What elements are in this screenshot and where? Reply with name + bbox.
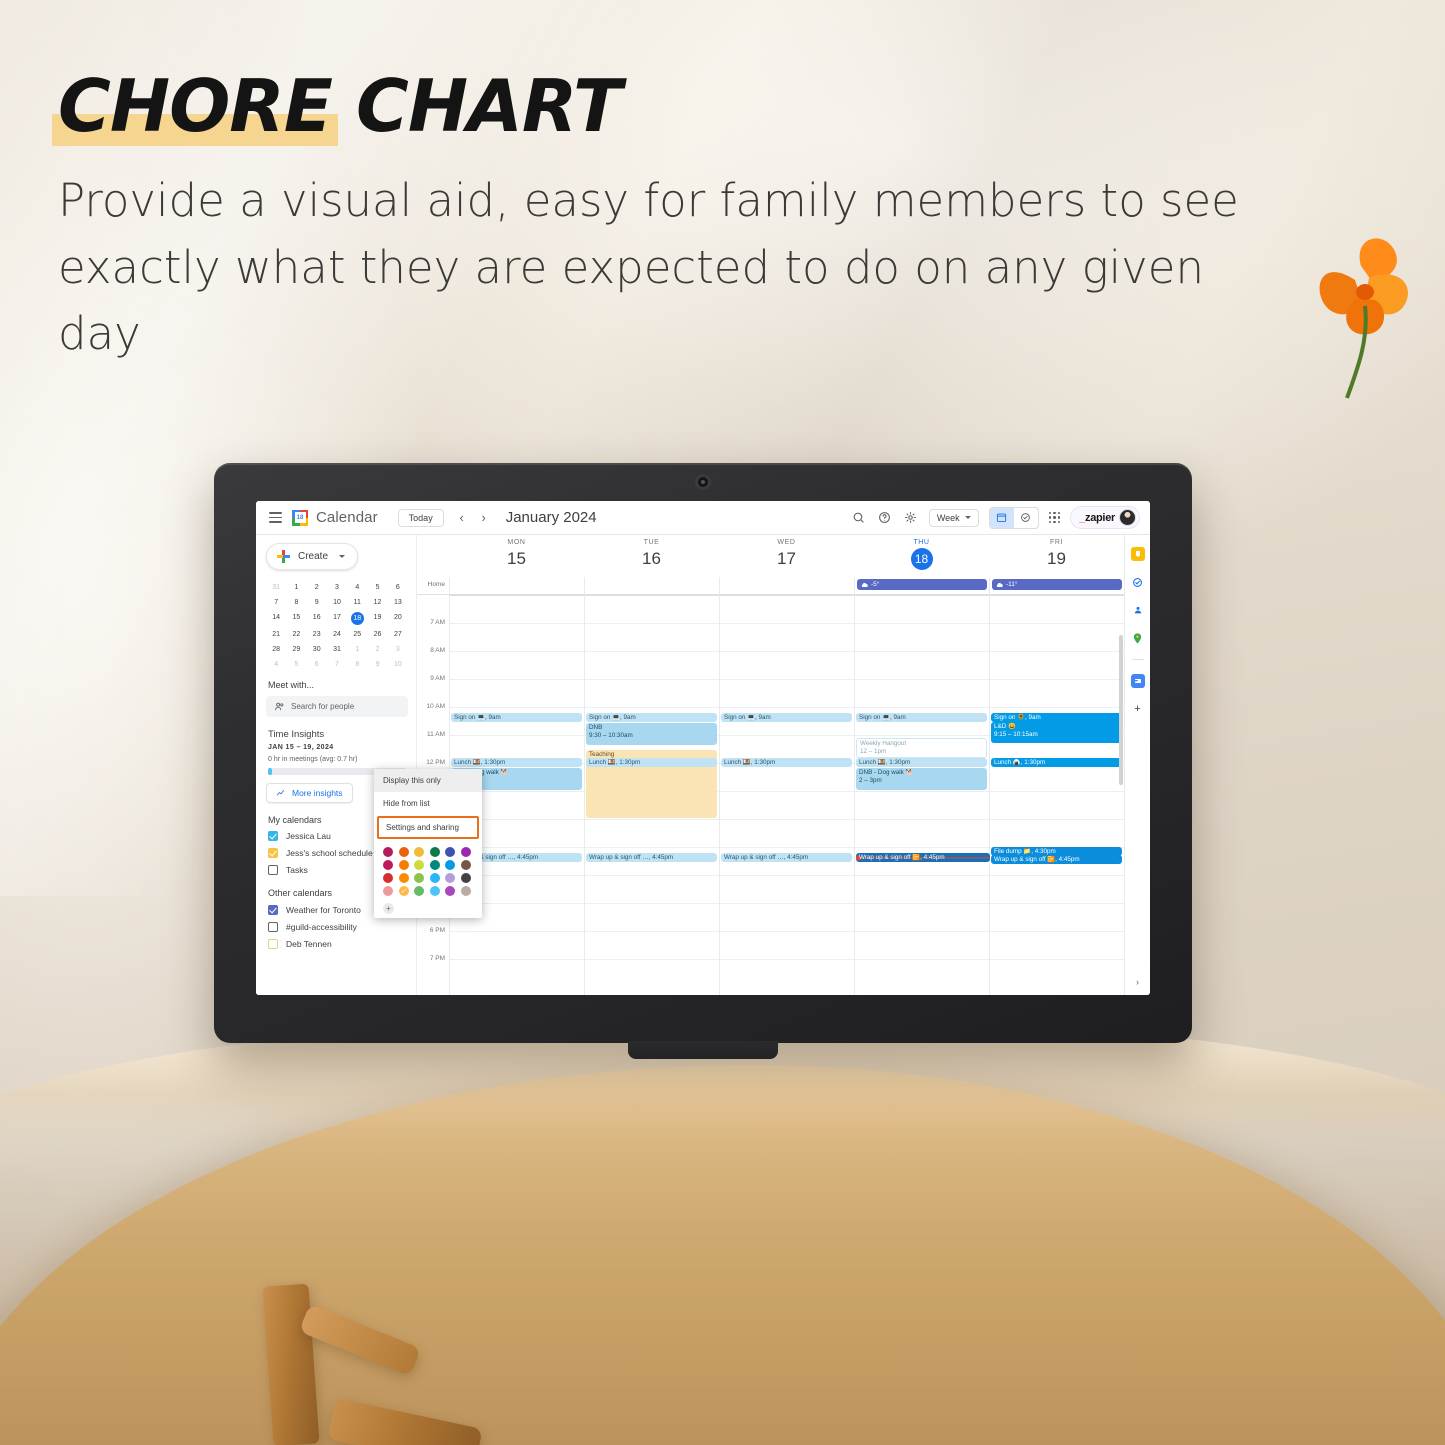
monitor-device: 18 Calendar Today ‹ › January 2024 [214,463,1192,1043]
color-swatch[interactable] [414,847,424,857]
event-chip-now[interactable]: Wrap up & sign off 📴, 4:45pm [856,853,990,862]
chevron-left-icon[interactable]: ‹ [452,508,472,528]
mini-calendar-week: 28 29 30 31 1 2 3 [266,644,408,655]
color-swatch[interactable] [445,886,455,896]
search-people-input[interactable]: Search for people [266,696,408,717]
mini-day[interactable]: 24 [327,629,347,640]
time-label: 10 AM [427,703,445,710]
color-swatch[interactable] [461,847,471,857]
day-column-wed[interactable]: Sign on 💻, 9am Lunch 🍱, 1:30pm Wrap up &… [719,595,854,995]
calendar-item-deb-tennen[interactable]: Deb Tennen [266,939,408,949]
calendar-name: Tasks [286,865,308,875]
event-chip[interactable]: Lunch 🍱, 1:30pm [451,758,582,767]
cloud-icon [996,582,1003,588]
mini-day[interactable]: 1 [347,644,367,655]
plus-multicolor-icon [277,550,290,563]
event-chip[interactable]: File dump 📁, 4:30pm [991,847,1122,856]
day-header-row: MON 15 TUE 16 WED 17 THU 18 [417,535,1124,577]
mini-calendar-week: 4 5 6 7 8 9 10 [266,659,408,670]
color-swatch[interactable] [414,873,424,883]
maps-icon[interactable] [1131,631,1145,645]
time-insights-range: JAN 15 – 19, 2024 [268,744,408,751]
event-chip[interactable]: Lunch 🍙, 1:30pm [991,758,1122,767]
mini-day[interactable]: 19 [367,612,387,625]
mini-calendar-week: 14 15 16 17 18 19 20 [266,612,408,625]
mini-day[interactable]: 6 [307,659,327,670]
help-icon[interactable] [877,510,893,526]
mini-day[interactable]: 1 [286,582,306,593]
time-grid: 7 AM 8 AM 9 AM 10 AM 11 AM 12 PM 1 PM 2 … [417,595,1124,995]
mini-day[interactable]: 15 [286,612,306,625]
hamburger-icon[interactable] [264,508,286,526]
color-swatch[interactable] [461,860,471,870]
day-header-wed[interactable]: WED 17 [719,535,854,577]
menu-item-settings-and-sharing[interactable]: Settings and sharing [377,816,479,839]
more-insights-button[interactable]: More insights [266,783,353,803]
mini-day[interactable]: 22 [286,629,306,640]
more-insights-label: More insights [292,788,343,798]
calendar-item-guild-accessibility[interactable]: #guild-accessibility [266,922,408,932]
mini-day[interactable]: 23 [307,629,327,640]
marketplace-addon-icon[interactable] [1131,674,1145,688]
time-label: 8 AM [430,647,445,654]
mini-day[interactable]: 13 [388,597,408,608]
poster-headline-block: CHORE CHART Provide a visual aid, easy f… [58,70,1258,368]
mini-day[interactable]: 10 [327,597,347,608]
event-chip[interactable]: Lunch 🍱, 1:30pm [586,758,717,767]
add-addon-icon[interactable]: + [1131,702,1145,716]
create-button-label: Create [298,551,328,562]
mini-day[interactable]: 20 [388,612,408,625]
day-of-week: MON [449,539,584,546]
color-swatch[interactable] [461,886,471,896]
view-select[interactable]: Week [929,509,979,527]
time-label: 11 AM [427,731,445,738]
date-nav-group: ‹ › [452,508,494,528]
weather-chip-thu[interactable]: -5° [857,579,987,590]
search-people-placeholder: Search for people [291,702,354,711]
app-body: Create 31 1 2 3 4 5 6 7 8 [256,535,1150,995]
all-day-cell-wed[interactable] [719,577,854,594]
color-swatch[interactable] [461,873,471,883]
cloud-icon [861,582,868,588]
app-brand-label: Calendar [316,509,378,526]
weather-temp: -5° [871,581,879,588]
chevron-right-icon[interactable]: › [1136,977,1139,987]
color-swatch[interactable] [445,847,455,857]
calendar-context-menu: Display this only Hide from list Setting… [374,769,482,918]
checkbox-checked[interactable] [268,831,278,841]
rail-divider [1132,659,1144,660]
event-chip[interactable]: Sign on 💻, 9am [856,713,987,722]
app-topbar: 18 Calendar Today ‹ › January 2024 [256,501,1150,535]
title-rest: CHART [332,64,621,148]
vertical-scrollbar[interactable] [1119,635,1123,785]
day-number: 19 [989,548,1124,570]
tasks-icon[interactable] [1131,575,1145,589]
view-toggle-group [989,507,1039,529]
mini-day[interactable]: 29 [286,644,306,655]
event-chip[interactable]: DNB - Dog walk 🐕 2 – 3pm [856,768,987,790]
mini-day[interactable]: 9 [367,659,387,670]
tasks-view-button[interactable] [1014,508,1038,528]
mini-day[interactable]: 8 [286,597,306,608]
color-swatch[interactable] [430,860,440,870]
all-day-row: Home -5° [417,577,1124,595]
time-label: 7 AM [430,619,445,626]
time-label: 7 PM [430,955,445,962]
mini-day[interactable]: 31 [266,582,286,593]
mini-day[interactable]: 7 [327,659,347,670]
title-highlight: CHORE [58,70,332,142]
event-chip[interactable]: Wrap up & sign off …, 4:45pm [721,853,852,862]
color-swatch[interactable] [430,886,440,896]
day-header-thu-today[interactable]: THU 18 [854,535,989,577]
create-button[interactable]: Create [266,543,358,570]
mini-day[interactable]: 9 [307,597,327,608]
mini-day[interactable]: 21 [266,629,286,640]
mini-day[interactable]: 8 [347,659,367,670]
day-number: 15 [449,548,584,570]
webcam-icon [698,477,708,487]
event-chip[interactable]: Weekly Hangout 12 – 1pm [856,738,987,758]
mini-day[interactable]: 5 [367,582,387,593]
insights-chart-icon [276,788,286,798]
all-day-cell-mon[interactable] [449,577,584,594]
orange-flower-icon [1295,220,1425,410]
event-chip[interactable]: Sign on 💻, 9am [586,713,717,722]
google-calendar-logo[interactable]: 18 [292,510,308,526]
apps-grid-icon[interactable] [1049,512,1061,524]
day-of-week: THU [854,539,989,546]
color-swatch[interactable] [414,860,424,870]
contacts-icon[interactable] [1131,603,1145,617]
side-panel-rail: + › [1124,535,1150,995]
event-chip[interactable]: Sign on 🌻, 9am [991,713,1122,722]
screen: 18 Calendar Today ‹ › January 2024 [256,501,1150,995]
workspace-label: zapier [1079,512,1115,524]
color-swatch[interactable] [430,873,440,883]
mini-day[interactable]: 7 [266,597,286,608]
mini-day[interactable]: 25 [347,629,367,640]
time-label: 12 PM [426,759,445,766]
event-chip[interactable]: Lunch 🍱, 1:30pm [721,758,852,767]
event-chip[interactable]: Sign on 💻, 9am [451,713,582,722]
mini-day[interactable]: 28 [266,644,286,655]
checkbox-unchecked[interactable] [268,939,278,949]
mini-day[interactable]: 3 [327,582,347,593]
checkbox-checked[interactable] [268,905,278,915]
gear-icon[interactable] [903,510,919,526]
mini-day[interactable]: 2 [367,644,387,655]
user-avatar[interactable] [1119,509,1136,526]
logo-day-number: 18 [295,512,306,523]
day-of-week: FRI [989,539,1124,546]
topbar-right-actions: Week [851,506,1142,529]
menu-item-display-this-only[interactable]: Display this only [374,769,482,792]
all-day-cell-tue[interactable] [584,577,719,594]
my-calendars-label: My calendars [268,815,322,825]
mini-day[interactable]: 31 [327,644,347,655]
calendar-name: Jess's school schedule [286,848,373,858]
mini-calendar[interactable]: 31 1 2 3 4 5 6 7 8 9 10 11 12 [266,582,408,670]
weather-temp: -11° [1006,581,1018,588]
day-of-week: WED [719,539,854,546]
calendar-view-button[interactable] [990,508,1014,528]
day-header-tue[interactable]: TUE 16 [584,535,719,577]
chevron-down-icon [339,555,345,558]
calendar-grid-area: MON 15 TUE 16 WED 17 THU 18 [416,535,1124,995]
event-chip[interactable]: Lunch 🍱, 1:30pm [856,758,987,767]
mini-day[interactable]: 11 [347,597,367,608]
day-column-thu[interactable]: Sign on 💻, 9am Weekly Hangout 12 – 1pm L… [854,595,989,995]
meet-with-label: Meet with... [268,680,408,690]
mini-day[interactable]: 10 [388,659,408,670]
color-swatch[interactable] [414,886,424,896]
day-header-fri[interactable]: FRI 19 [989,535,1124,577]
calendar-name: Weather for Toronto [286,905,361,915]
search-icon[interactable] [851,510,867,526]
timezone-corner [417,535,449,577]
mini-day[interactable]: 17 [327,612,347,625]
calendar-name: Deb Tennen [286,939,332,949]
day-column-fri[interactable]: Sign on 🌻, 9am L&D 😀 9:15 – 10:15am Lunc… [989,595,1124,995]
weather-chip-fri[interactable]: -11° [992,579,1122,590]
color-swatch[interactable] [383,873,393,883]
mini-day-selected[interactable]: 18 [347,612,367,625]
time-insights-meta: 0 hr in meetings (avg: 0.7 hr) [268,756,408,763]
event-chip[interactable]: Wrap up & sign off 📴, 4:45pm [991,855,1122,864]
today-button[interactable]: Today [398,509,444,527]
color-swatch[interactable] [399,847,409,857]
checkbox-checked[interactable] [268,848,278,858]
mini-day[interactable]: 12 [367,597,387,608]
mini-day[interactable]: 26 [367,629,387,640]
mini-day[interactable]: 27 [388,629,408,640]
page-subtitle: Provide a visual aid, easy for family me… [58,168,1248,368]
chevron-down-icon [965,516,971,519]
day-number-today: 18 [911,548,933,570]
calendar-scroll-region[interactable]: 7 AM 8 AM 9 AM 10 AM 11 AM 12 PM 1 PM 2 … [417,595,1124,995]
day-header-mon[interactable]: MON 15 [449,535,584,577]
mini-day[interactable]: 5 [286,659,306,670]
color-swatch[interactable] [399,860,409,870]
color-swatch[interactable] [399,873,409,883]
mini-day[interactable]: 30 [307,644,327,655]
day-column-tue[interactable]: Sign on 💻, 9am DNB 9:30 – 10:30am Teachi… [584,595,719,995]
color-swatch[interactable] [430,847,440,857]
checkbox-unchecked[interactable] [268,865,278,875]
mini-day[interactable]: 2 [307,582,327,593]
event-chip[interactable]: Wrap up & sign off …, 4:45pm [586,853,717,862]
color-swatch[interactable] [445,860,455,870]
calendar-name: Jessica Lau [286,831,331,841]
color-swatch[interactable] [383,860,393,870]
day-of-week: TUE [584,539,719,546]
color-swatch[interactable] [383,847,393,857]
workspace-chip[interactable]: zapier [1070,506,1140,529]
event-chip[interactable]: Sign on 💻, 9am [721,713,852,722]
mini-day[interactable]: 4 [266,659,286,670]
mini-day[interactable]: 16 [307,612,327,625]
time-insights-title: Time Insights [268,729,408,740]
time-label: 6 PM [430,927,445,934]
mini-calendar-week: 31 1 2 3 4 5 6 [266,582,408,593]
month-title: January 2024 [506,509,597,526]
color-swatch-selected[interactable] [399,886,409,896]
mini-day[interactable]: 14 [266,612,286,625]
menu-item-hide-from-list[interactable]: Hide from list [374,792,482,815]
sidebar: Create 31 1 2 3 4 5 6 7 8 [256,535,416,995]
all-day-cell-thu[interactable]: -5° [854,577,989,594]
day-number: 17 [719,548,854,570]
add-custom-color-icon[interactable]: + [383,903,394,914]
mini-day[interactable]: 6 [388,582,408,593]
people-icon [274,701,285,712]
page-title: CHORE CHART [58,70,621,142]
all-day-cell-fri[interactable]: -11° [989,577,1124,594]
checkbox-unchecked[interactable] [268,922,278,932]
event-chip[interactable]: L&D 😀 9:15 – 10:15am [991,722,1122,743]
mini-day[interactable]: 3 [388,644,408,655]
keep-icon[interactable] [1131,547,1145,561]
monitor-stand [628,1041,778,1059]
calendar-name: #guild-accessibility [286,922,357,932]
mini-calendar-week: 21 22 23 24 25 26 27 [266,629,408,640]
time-label: 9 AM [430,675,445,682]
all-day-label: Home [417,577,449,594]
chevron-right-icon[interactable]: › [474,508,494,528]
other-calendars-label: Other calendars [268,888,332,898]
color-swatch[interactable] [445,873,455,883]
mini-day[interactable]: 4 [347,582,367,593]
color-palette [374,840,482,898]
color-swatch[interactable] [383,886,393,896]
mini-calendar-week: 7 8 9 10 11 12 13 [266,597,408,608]
day-number: 16 [584,548,719,570]
event-chip[interactable]: DNB 9:30 – 10:30am [586,723,717,745]
view-select-label: Week [937,513,960,523]
